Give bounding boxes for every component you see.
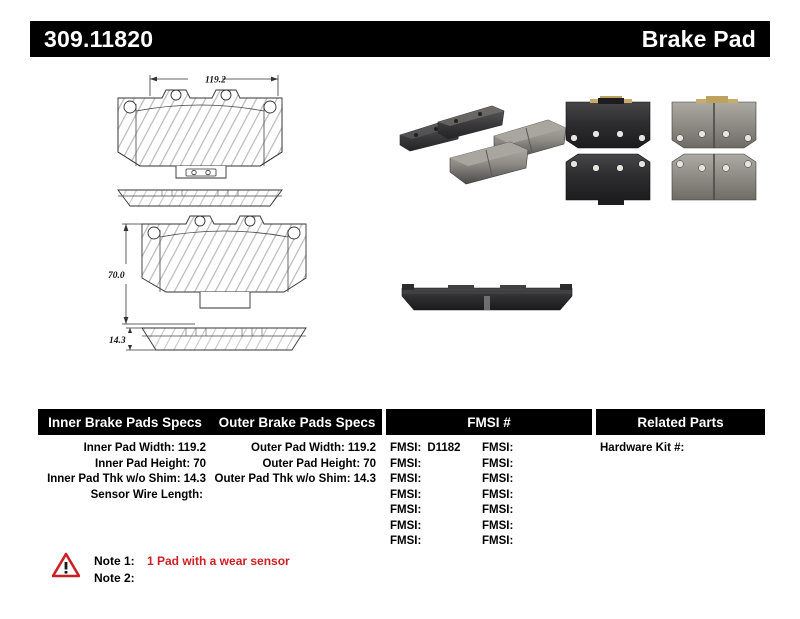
inner-spec-value: 70 [193, 458, 206, 470]
column-header-inner-specs: Inner Brake Pads Specs [38, 409, 212, 435]
note-row-1: Note 1: 1 Pad with a wear sensor [94, 553, 290, 570]
fmsi-grid: FMSI:D1182 FMSI: FMSI: FMSI: FMSI: FMSI:… [382, 441, 592, 550]
fmsi-row: FMSI: [482, 472, 574, 488]
fmsi-column: FMSI:D1182 FMSI: FMSI: FMSI: FMSI: FMSI:… [382, 441, 592, 550]
note-1-label: Note 1: [94, 553, 140, 570]
fmsi-label: FMSI: [482, 504, 513, 516]
fmsi-label: FMSI: [390, 442, 421, 454]
inner-specs-column: Inner Pad Width:119.2 Inner Pad Height:7… [38, 441, 212, 550]
outer-spec-row: Outer Pad Height:70 [212, 457, 382, 473]
pad-edge-body [402, 284, 572, 310]
pad-top-right [672, 96, 756, 148]
fmsi-label: FMSI: [482, 535, 513, 547]
inner-spec-row: Sensor Wire Length: [38, 488, 212, 504]
inner-spec-row: Inner Pad Width:119.2 [38, 441, 212, 457]
outer-spec-label: Outer Pad Width: [251, 442, 345, 454]
topview-pads-svg [560, 90, 765, 210]
outer-spec-value: 119.2 [348, 442, 376, 454]
note-2-label: Note 2: [94, 570, 140, 587]
notes-section: Note 1: 1 Pad with a wear sensor Note 2: [52, 552, 290, 587]
inner-spec-value: 119.2 [178, 442, 206, 454]
outer-spec-row: Outer Pad Width:119.2 [212, 441, 382, 457]
spec-table: Inner Brake Pads Specs Outer Brake Pads … [38, 409, 765, 550]
fmsi-label: FMSI: [482, 520, 513, 532]
edge-pad-svg [392, 262, 582, 330]
outer-spec-label: Outer Pad Height: [262, 458, 360, 470]
inner-spec-label: Inner Pad Thk w/o Shim: [47, 473, 181, 485]
outer-spec-label: Outer Pad Thk w/o Shim: [215, 473, 351, 485]
height-dimension-label: 70.0 [108, 271, 125, 281]
outer-spec-value: 70 [363, 458, 376, 470]
fmsi-subcolumn-left: FMSI:D1182 FMSI: FMSI: FMSI: FMSI: FMSI:… [390, 441, 482, 550]
pad-side-view-top [118, 190, 282, 206]
pad-front-view-top [118, 90, 282, 178]
fmsi-row: FMSI: [390, 534, 482, 550]
fmsi-row: FMSI: [390, 488, 482, 504]
fmsi-row: FMSI: [390, 472, 482, 488]
fmsi-row: FMSI: [482, 519, 574, 535]
pad-photo-4 [450, 142, 528, 184]
fmsi-row: FMSI: [482, 488, 574, 504]
page-title: Brake Pad [642, 26, 756, 53]
fmsi-row: FMSI: [482, 441, 574, 457]
fmsi-row: FMSI: [390, 457, 482, 473]
technical-drawing-panel: 119.2 [100, 66, 350, 376]
inner-spec-label: Inner Pad Width: [84, 442, 175, 454]
media-area: 119.2 [0, 62, 800, 392]
fmsi-label: FMSI: [390, 473, 421, 485]
fmsi-value: D1182 [427, 442, 460, 454]
outer-spec-value: 14.3 [354, 473, 376, 485]
inner-spec-row: Inner Pad Height:70 [38, 457, 212, 473]
spec-table-body: Inner Pad Width:119.2 Inner Pad Height:7… [38, 441, 765, 550]
pad-front-view-bottom [142, 216, 306, 308]
note-1-value: 1 Pad with a wear sensor [147, 553, 290, 570]
note-row-2: Note 2: [94, 570, 290, 587]
header-bar: 309.11820 Brake Pad [30, 21, 770, 57]
thickness-dimension-label: 14.3 [109, 336, 126, 346]
column-header-outer-specs: Outer Brake Pads Specs [212, 409, 382, 435]
inner-spec-value: 14.3 [184, 473, 206, 485]
fmsi-label: FMSI: [390, 520, 421, 532]
pad-top-left [566, 96, 650, 148]
related-parts-column: Hardware Kit #: [592, 441, 761, 550]
brake-pad-drawings-svg: 119.2 [100, 66, 350, 376]
fmsi-row: FMSI: [482, 503, 574, 519]
fmsi-row: FMSI: [390, 503, 482, 519]
pad-bottom-right [672, 154, 756, 200]
fmsi-label: FMSI: [390, 504, 421, 516]
pad-photo-2 [438, 106, 504, 139]
inner-spec-label: Sensor Wire Length: [91, 489, 203, 501]
product-photo-angled [398, 92, 578, 202]
column-header-fmsi: FMSI # [386, 409, 592, 435]
fmsi-label: FMSI: [390, 535, 421, 547]
related-part-label: Hardware Kit #: [600, 442, 684, 454]
inner-spec-row: Inner Pad Thk w/o Shim:14.3 [38, 472, 212, 488]
part-number: 309.11820 [44, 26, 153, 53]
product-photo-topview [560, 90, 765, 210]
fmsi-label: FMSI: [482, 489, 513, 501]
fmsi-row: FMSI:D1182 [390, 441, 482, 457]
fmsi-label: FMSI: [390, 458, 421, 470]
outer-spec-row: Outer Pad Thk w/o Shim:14.3 [212, 472, 382, 488]
fmsi-label: FMSI: [482, 473, 513, 485]
pad-side-view-bottom [142, 328, 306, 350]
product-photo-edge [392, 262, 582, 330]
fmsi-label: FMSI: [390, 489, 421, 501]
fmsi-label: FMSI: [482, 458, 513, 470]
fmsi-row: FMSI: [390, 519, 482, 535]
inner-spec-label: Inner Pad Height: [95, 458, 190, 470]
pad-bottom-left [566, 154, 650, 205]
fmsi-row: FMSI: [482, 534, 574, 550]
spec-table-header-row: Inner Brake Pads Specs Outer Brake Pads … [38, 409, 765, 435]
angled-pads-svg [398, 92, 578, 202]
outer-specs-column: Outer Pad Width:119.2 Outer Pad Height:7… [212, 441, 382, 550]
warning-triangle-icon [52, 552, 80, 578]
fmsi-label: FMSI: [482, 442, 513, 454]
fmsi-subcolumn-right: FMSI: FMSI: FMSI: FMSI: FMSI: FMSI: FMSI… [482, 441, 574, 550]
column-header-related-parts: Related Parts [596, 409, 765, 435]
related-part-row: Hardware Kit #: [592, 441, 761, 457]
width-dimension-label: 119.2 [205, 76, 226, 86]
fmsi-row: FMSI: [482, 457, 574, 473]
notes-text-block: Note 1: 1 Pad with a wear sensor Note 2: [94, 552, 290, 587]
